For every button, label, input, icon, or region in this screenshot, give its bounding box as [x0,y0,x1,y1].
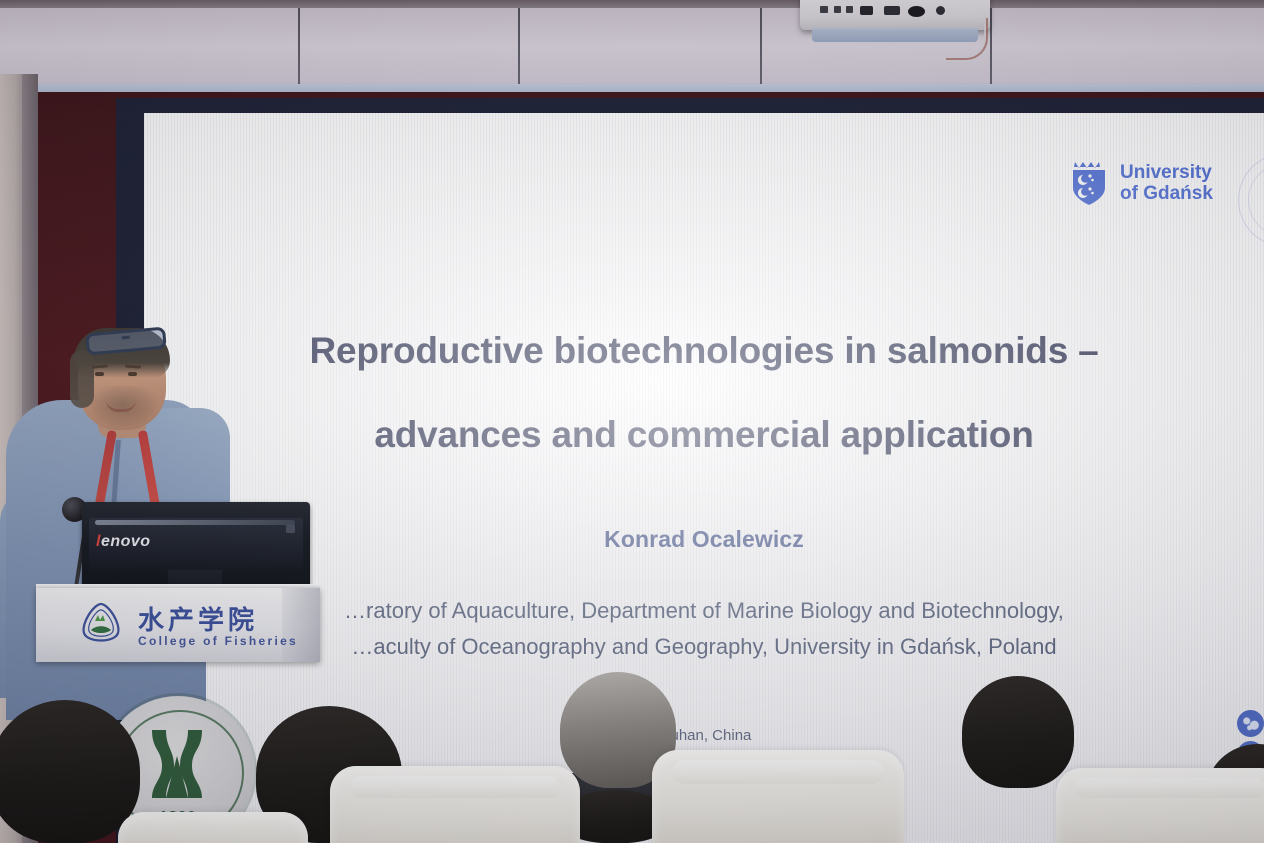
ceiling-seam [760,8,762,94]
audience-head [962,676,1074,788]
university-seal-emblem-icon [140,726,214,808]
university-of-gdansk-logo: University of Gdańsk [1069,158,1213,207]
gdansk-logo-text: University of Gdańsk [1120,162,1213,204]
lenovo-brand-rest: enovo [101,533,151,550]
projector-lens [908,6,925,17]
lenovo-brand-logo: lenovo [96,533,151,551]
ceiling-seam [518,8,520,94]
ceiling-beam [0,8,1264,92]
speaker-eye [95,372,104,376]
monitor-glint [95,520,295,525]
gdansk-shield-icon [1069,158,1109,207]
chair-fold [672,760,884,784]
chair-fold [1074,778,1264,798]
ceiling-seam [298,8,300,94]
speaker-eye [128,372,137,376]
gdansk-logo-line2: of Gdańsk [1120,183,1213,204]
audience-head [0,700,140,843]
chair-fold [350,776,560,798]
projector-port [846,6,853,13]
projector-port [884,6,900,15]
podium-chinese-name: 水产学院 [138,600,258,637]
monitor-power-button[interactable] [286,524,295,533]
podium-english-name: College of Fisheries [138,634,298,648]
gdansk-logo-line1: University [1120,162,1213,183]
audience-chair [118,812,308,843]
podium-side-shadow [282,588,320,662]
projector-port [860,6,873,15]
projector-port [834,6,841,13]
lecture-hall-photo: University of Gdańsk BIZ Reproductive bi… [0,0,1264,843]
college-of-fisheries-logo-icon [78,601,124,647]
projector-port [820,6,828,13]
ceiling-seam [990,8,992,94]
